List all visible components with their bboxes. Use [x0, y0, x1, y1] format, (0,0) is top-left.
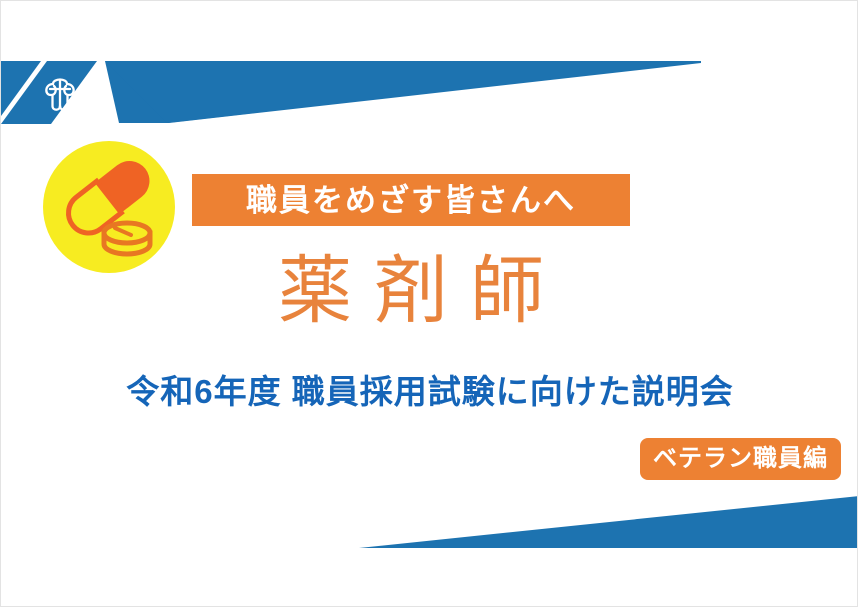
edition-badge-label: ベテラン職員編	[653, 447, 828, 471]
bottom-wedge-shape	[359, 496, 858, 548]
top-band-left-shape	[1, 61, 41, 116]
page-title-text: 薬剤師	[256, 254, 566, 328]
institution-emblem-icon	[39, 69, 81, 117]
top-band-main-wedge-body	[105, 61, 701, 123]
audience-ribbon-label: 職員をめざす皆さんへ	[246, 185, 576, 216]
audience-ribbon: 職員をめざす皆さんへ	[192, 174, 630, 226]
pill-capsule-icon	[43, 141, 175, 273]
top-band-main-wedge	[105, 61, 701, 123]
slide-canvas: 職員をめざす皆さんへ 薬剤師 令和6年度 職員採用試験に向けた説明会 ベテラン職…	[0, 0, 858, 607]
page-subtitle-text: 令和6年度 職員採用試験に向けた説明会	[126, 373, 734, 410]
tablet-disc	[104, 223, 150, 254]
page-title: 薬剤師	[192, 237, 630, 345]
edition-badge: ベテラン職員編	[640, 438, 841, 480]
icon-circle-background	[43, 141, 175, 273]
top-decorative-band	[1, 1, 858, 151]
page-subtitle: 令和6年度 職員採用試験に向けた説明会	[1, 372, 858, 412]
bottom-decorative-wedge	[1, 486, 858, 606]
